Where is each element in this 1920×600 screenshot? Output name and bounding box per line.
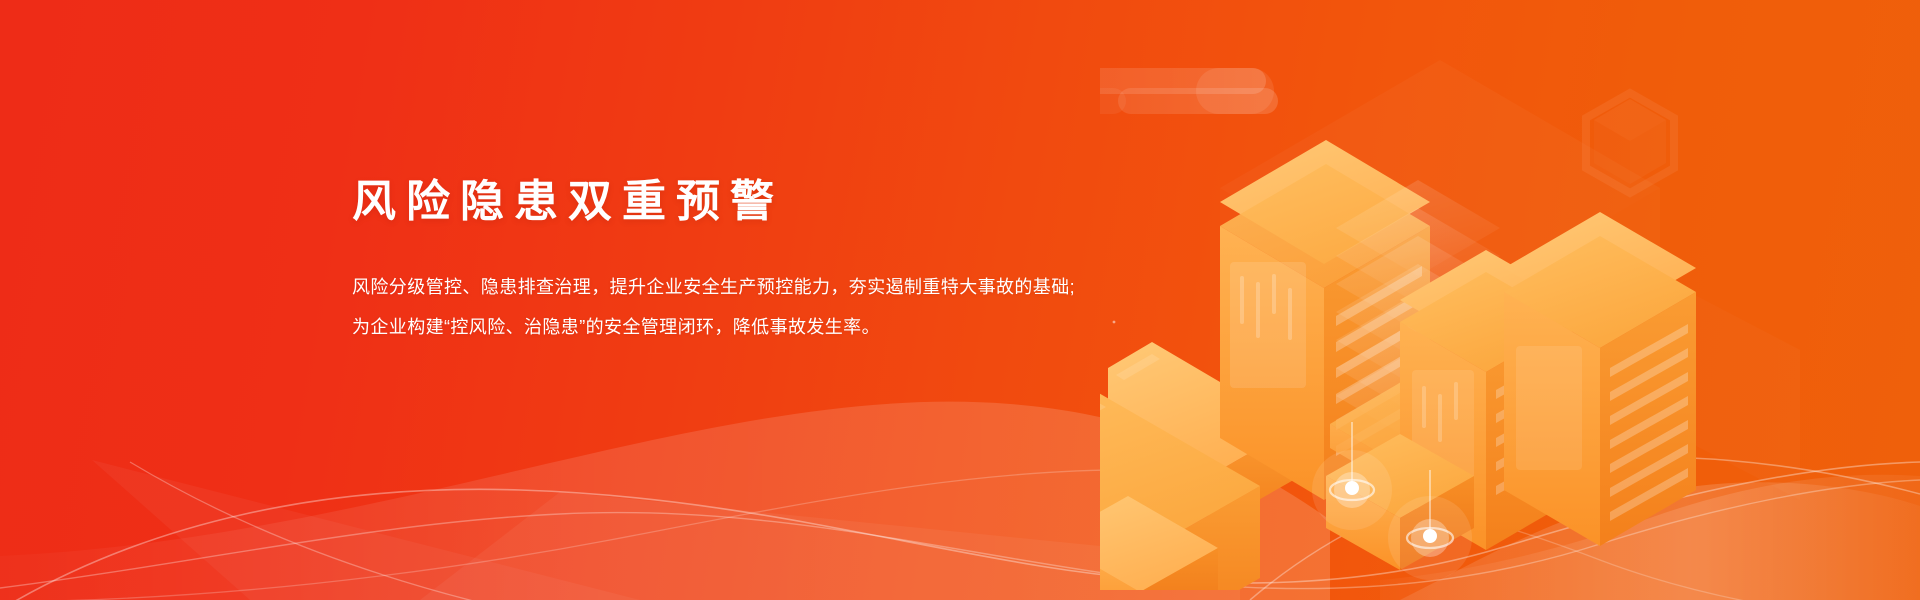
wave-sheen-block (420, 492, 1240, 600)
hex-cube-top-right-icon (1586, 93, 1674, 193)
center-right-tower (1400, 250, 1572, 550)
subtitle-line-1: 风险分级管控、隐患排查治理，提升企业安全生产预控能力，夯实遏制重特大事故的基础; (352, 267, 1172, 307)
cloud-motif-top-icon (1100, 68, 1278, 114)
wave-line-4 (130, 462, 1160, 600)
wave-line-1 (0, 462, 1920, 600)
wave-fill-right (1380, 475, 1920, 600)
left-tower (1220, 140, 1430, 500)
hex-cube-medium-icon (1195, 382, 1295, 494)
wave-fill-bottomright (1400, 482, 1920, 600)
left-arrow-block (1108, 342, 1304, 522)
isometric-city-illustration (1100, 30, 1800, 590)
wave-fill-left (0, 402, 1330, 600)
front-cube-blocks (1326, 434, 1474, 570)
wave-line-5 (1250, 457, 1920, 600)
page-title: 风险隐患双重预警 (352, 176, 1172, 229)
wave-line-3 (0, 470, 1920, 600)
stacked-plates (1330, 180, 1506, 500)
right-tower (1504, 212, 1696, 546)
wave-line-2 (0, 480, 1920, 589)
hex-cube-small-icon (1300, 309, 1374, 393)
page-subtitle: 风险分级管控、隐患排查治理，提升企业安全生产预控能力，夯实遏制重特大事故的基础;… (352, 229, 1172, 347)
glow-sparkle-group (1312, 422, 1472, 580)
ghost-cube-backdrop (1220, 60, 1660, 500)
hero-banner: 风险隐患双重预警 风险分级管控、隐患排查治理，提升企业安全生产预控能力，夯实遏制… (0, 0, 1920, 600)
hero-copy: 风险隐患双重预警 风险分级管控、隐患排查治理，提升企业安全生产预控能力，夯实遏制… (352, 176, 1172, 347)
ghost-slab-right (1570, 230, 1800, 500)
wave-sheen-diagonal (92, 460, 640, 600)
wedge-block (1100, 496, 1218, 590)
subtitle-line-2: 为企业构建“控风险、治隐患”的安全管理闭环，降低事故发生率。 (352, 307, 1172, 347)
front-left-slab (1100, 388, 1260, 590)
